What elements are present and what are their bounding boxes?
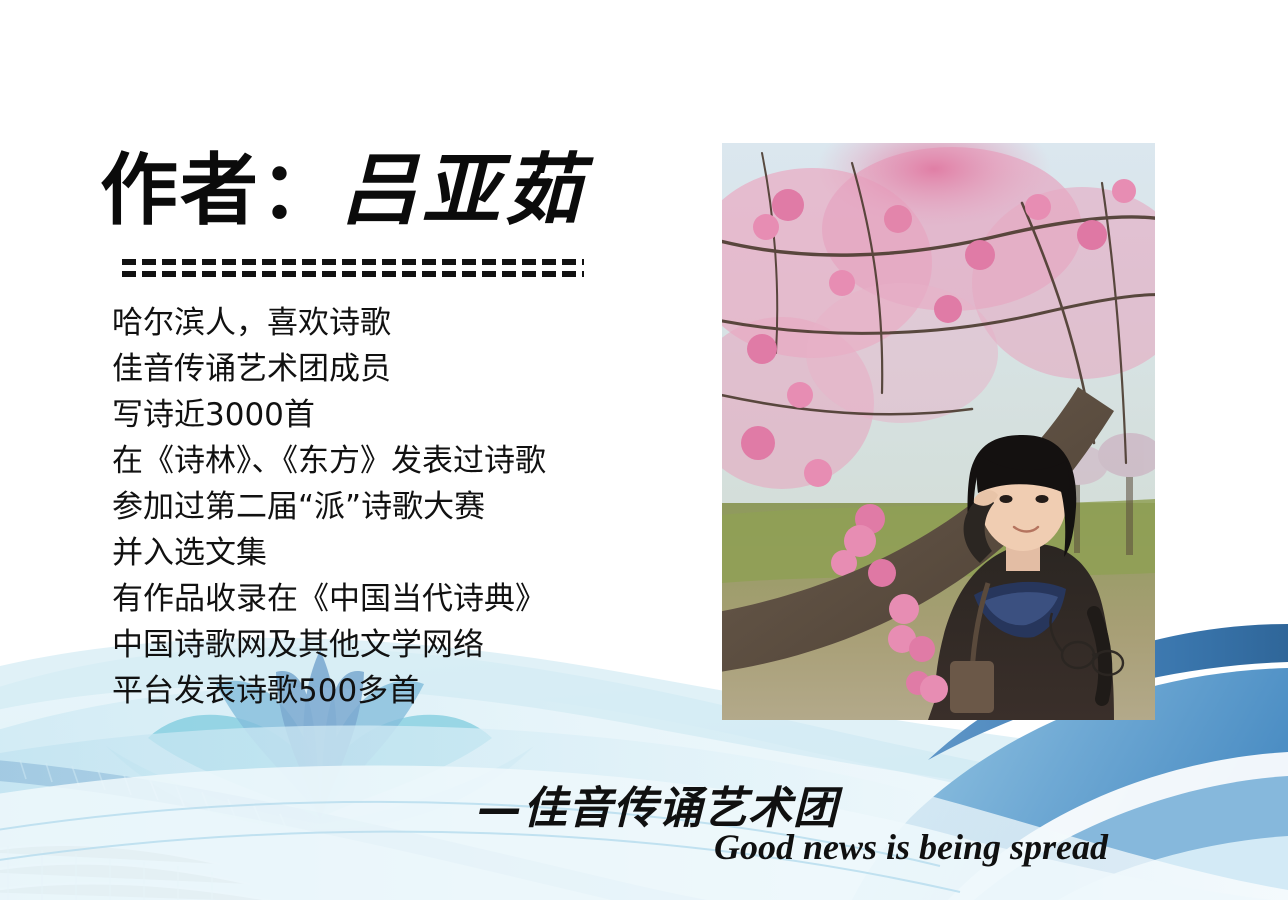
bio-line: 佳音传诵艺术团成员 [112,346,712,392]
bio-line: 哈尔滨人，喜欢诗歌 [112,300,712,346]
bio-line: 平台发表诗歌500多首 [112,668,712,714]
dash-line-bottom [122,271,584,277]
bio-line: 写诗近3000首 [112,392,712,438]
bio-line: 参加过第二届“派”诗歌大赛 [112,484,712,530]
dash-line-top [122,259,584,265]
bio-line: 有作品收录在《中国当代诗典》 [112,576,712,622]
dashed-divider [122,259,584,277]
title-prefix: 作者： [100,146,340,236]
author-photo-illustration [722,143,1155,720]
author-title-block: 作者：吕亚茹 [100,152,720,230]
author-photo [722,143,1155,720]
bio-line: 在《诗林》、《东方》发表过诗歌 [112,438,712,484]
author-name: 吕亚茹 [340,146,586,236]
author-bio-list: 哈尔滨人，喜欢诗歌 佳音传诵艺术团成员 写诗近3000首 在《诗林》、《东方》发… [112,300,712,714]
organization-tagline: Good news is being spread [714,826,1108,868]
bio-line: 中国诗歌网及其他文学网络 [112,622,712,668]
slide-canvas: 作者：吕亚茹 哈尔滨人，喜欢诗歌 佳音传诵艺术团成员 写诗近3000首 在《诗林… [0,0,1288,900]
bio-line: 并入选文集 [112,530,712,576]
page-title: 作者：吕亚茹 [100,152,720,230]
